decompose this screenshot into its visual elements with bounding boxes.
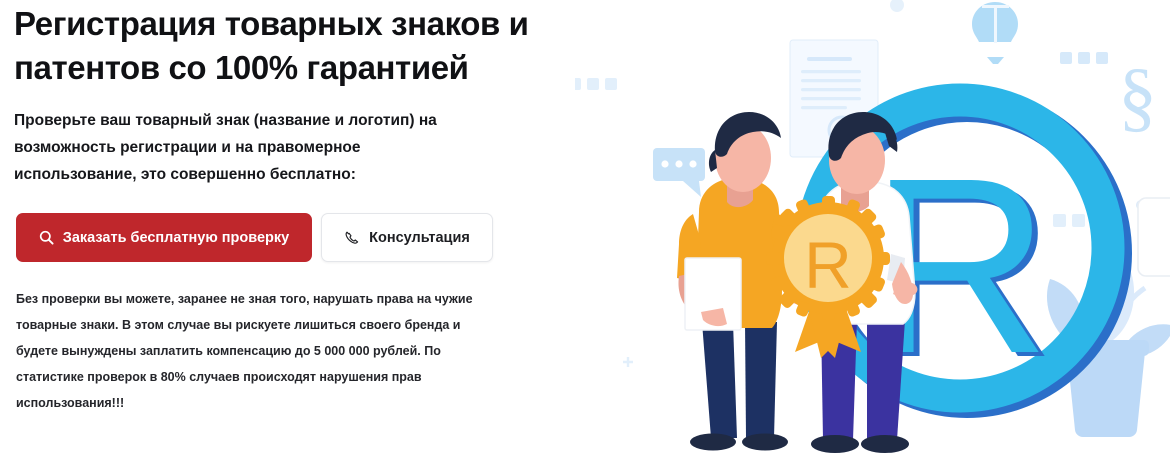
consultation-label: Консультация	[369, 230, 470, 246]
hero-illustration: §	[575, 0, 1170, 473]
consultation-button[interactable]: Консультация	[321, 213, 493, 262]
page-title: Регистрация товарных знаков и патентов с…	[14, 0, 559, 90]
badge-letter: R	[804, 228, 852, 302]
section-sign-icon: §	[1118, 52, 1157, 139]
phone-icon	[344, 230, 360, 246]
hero-disclaimer-text: Без проверки вы можете, заранее не зная …	[16, 286, 496, 416]
cta-button-row: Заказать бесплатную проверку Консультаци…	[16, 213, 493, 262]
search-icon	[39, 230, 54, 245]
hero-text-column: Регистрация товарных знаков и патентов с…	[14, 0, 574, 473]
hero-subtitle: Проверьте ваш товарный знак (название и …	[14, 90, 484, 188]
landing-hero-section: Регистрация товарных знаков и патентов с…	[0, 0, 1170, 473]
order-free-check-label: Заказать бесплатную проверку	[63, 230, 289, 246]
order-free-check-button[interactable]: Заказать бесплатную проверку	[16, 213, 312, 262]
chat-bubble-icon	[653, 148, 705, 197]
lightbulb-icon	[972, 2, 1018, 64]
